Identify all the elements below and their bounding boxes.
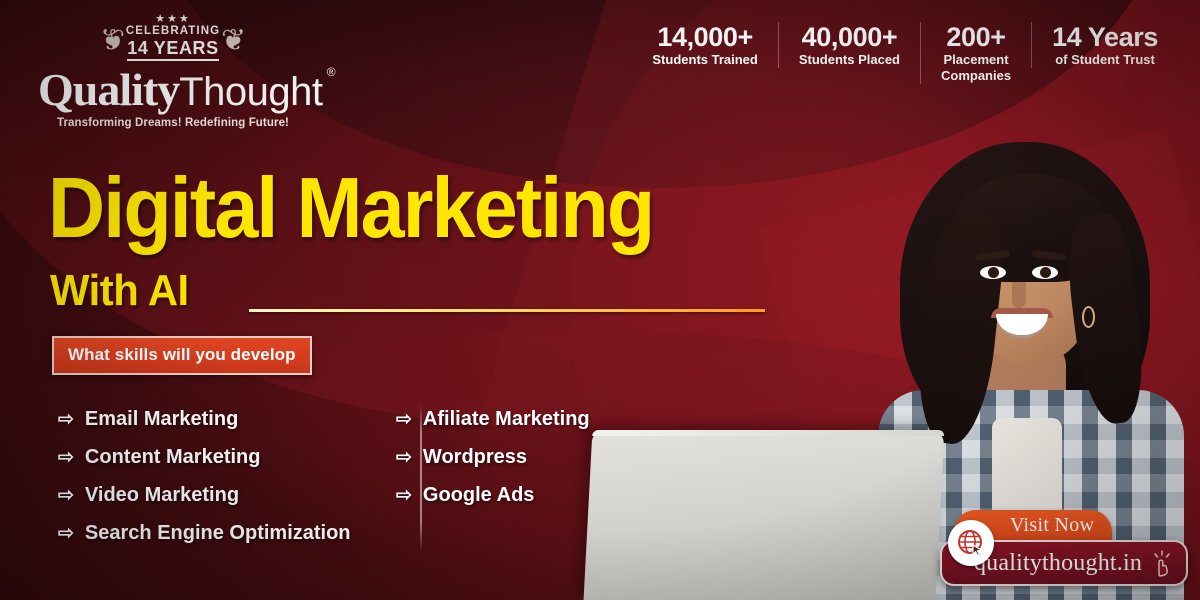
skill-label: Video Marketing [85,484,239,506]
brand-name-first: Quality [38,64,179,115]
stat-label-line2: Companies [941,68,1011,84]
skills-list: ⇨ Email Marketing ⇨ Content Marketing ⇨ … [58,408,622,544]
arrow-right-icon: ⇨ [396,448,412,467]
promotional-banner: ★★★ ❦ ❦ CELEBRATING 14 YEARS QualityThou… [0,0,1200,600]
registered-trademark-icon: ® [327,65,336,79]
laptop [584,430,945,600]
laurel-left-icon: ❦ [100,26,125,56]
skill-label: Search Engine Optimization [85,522,351,544]
stat-label: Students Trained [652,52,757,68]
skills-column-divider [420,404,422,552]
skill-label: Email Marketing [85,408,238,430]
stat-label: of Student Trust [1052,52,1158,68]
arrow-right-icon: ⇨ [58,448,74,467]
skill-label: Content Marketing [85,446,261,468]
stat-students-placed: 40,000+ Students Placed [778,22,920,68]
stat-label-line1: Placement [941,52,1011,68]
skills-question-badge: What skills will you develop [52,336,312,375]
years-label: 14 YEARS [127,38,219,61]
stat-label: Students Placed [799,52,900,68]
celebrating-badge: ★★★ ❦ ❦ CELEBRATING 14 YEARS [86,14,261,61]
laptop-lid-edge [592,430,944,436]
arrow-right-icon: ⇨ [58,410,74,429]
page-title: Digital Marketing [48,165,653,253]
stat-student-trust: 14 Years of Student Trust [1031,22,1178,68]
list-item: ⇨ Google Ads [396,484,622,506]
list-item: ⇨ Search Engine Optimization [58,522,362,544]
earring [1082,306,1095,328]
list-item: ⇨ Video Marketing [58,484,362,506]
list-item: ⇨ Content Marketing [58,446,362,468]
skills-column-left: ⇨ Email Marketing ⇨ Content Marketing ⇨ … [58,408,362,544]
arrow-right-icon: ⇨ [58,524,74,543]
brand-wordmark: QualityThought ® [38,67,323,115]
list-item: ⇨ Afiliate Marketing [396,408,622,430]
skills-column-right: ⇨ Afiliate Marketing ⇨ Wordpress ⇨ Googl… [362,408,622,544]
list-item: ⇨ Wordpress [396,446,622,468]
tap-hand-icon [1150,549,1176,577]
brand-logo[interactable]: ★★★ ❦ ❦ CELEBRATING 14 YEARS QualityThou… [38,14,308,129]
stat-students-trained: 14,000+ Students Trained [632,22,777,68]
visit-now-cta[interactable]: Visit Now qualitythought.in [940,510,1188,586]
list-item: ⇨ Email Marketing [58,408,362,430]
title-underline-rule [249,309,765,312]
page-subtitle: With AI [50,266,189,316]
arrow-right-icon: ⇨ [58,486,74,505]
stat-value: 200+ [941,22,1011,52]
celebrating-label: CELEBRATING [126,25,220,38]
stats-strip: 14,000+ Students Trained 40,000+ Student… [632,22,1178,84]
skill-label: Afiliate Marketing [423,408,590,430]
skill-label: Google Ads [423,484,534,506]
stat-placement-companies: 200+ Placement Companies [920,22,1031,84]
pupil-left [988,267,999,278]
skill-label: Wordpress [423,446,527,468]
arrow-right-icon: ⇨ [396,410,412,429]
pupil-right [1040,267,1051,278]
laurel-right-icon: ❦ [221,26,246,56]
stat-value: 14 Years [1052,22,1158,52]
brand-name-second: Thought [179,70,322,114]
nose [1012,282,1026,308]
globe-icon [948,520,994,566]
stat-value: 40,000+ [799,22,900,52]
brand-tagline: Transforming Dreams! Redefining Future! [38,117,308,129]
stat-value: 14,000+ [652,22,757,52]
arrow-right-icon: ⇨ [396,486,412,505]
